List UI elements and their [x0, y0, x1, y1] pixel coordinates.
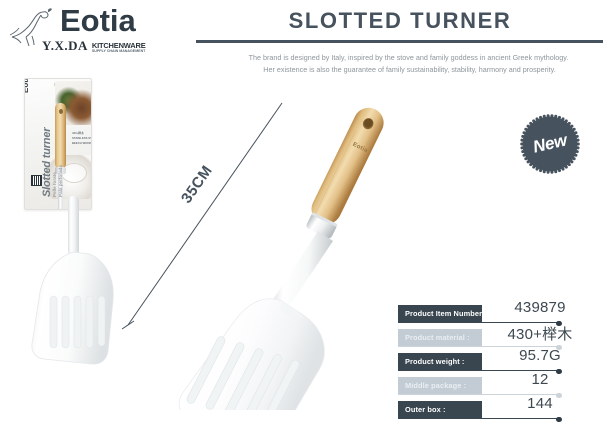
spec-row-value: 439879	[482, 299, 598, 316]
page-title: SLOTTED TURNER	[200, 8, 600, 34]
spec-row: Product material :430+榉木	[398, 325, 598, 349]
spec-row-label: Product material :	[398, 329, 482, 346]
card-turner-hang-hole	[59, 109, 63, 114]
product-spec-sheet: Eotia Y.X.DA KITCHENWARE SUPPLY CHAIN MA…	[0, 0, 603, 427]
logo-category-block: KITCHENWARE SUPPLY CHAIN MANAGEMENT	[92, 42, 146, 54]
specification-table: Product Item Number:439879Product materi…	[398, 301, 598, 421]
new-badge: New	[519, 113, 581, 175]
spec-row: Middle package :12	[398, 373, 598, 397]
spec-row-value: 144	[482, 395, 598, 412]
card-subtitle-line-1: Pelle forate	[52, 172, 57, 197]
card-spec-line-1: 430+榉木	[72, 131, 91, 135]
spec-row-value: 430+榉木	[482, 323, 598, 344]
card-product-subtitle: Pelle forate Pala perforada	[52, 165, 64, 197]
spec-row-line	[398, 418, 560, 419]
logo-company-name: Y.X.DA	[42, 38, 88, 54]
brand-logo: Eotia Y.X.DA KITCHENWARE SUPPLY CHAIN MA…	[8, 2, 193, 54]
spec-row-label: Outer box :	[398, 401, 482, 418]
spec-row: Product weight :95.7G	[398, 349, 598, 373]
card-subtitle-line-2: Pala perforada	[58, 165, 63, 197]
header-divider	[196, 40, 603, 43]
card-spec-line-2: STAINLESS STEEL	[72, 136, 91, 140]
spec-row: Product Item Number:439879	[398, 301, 598, 325]
spec-row-value: 95.7G	[482, 347, 598, 364]
card-spec-line-3: BEECH WOOD	[72, 141, 91, 145]
logo-subtitle: Y.X.DA KITCHENWARE SUPPLY CHAIN MANAGEME…	[42, 38, 146, 54]
card-logo: Eotia	[24, 78, 30, 93]
card-spec-block: 430+榉木 STAINLESS STEEL BEECH WOOD	[72, 131, 91, 143]
spec-row-label: Product weight :	[398, 353, 482, 370]
brand-description: The brand is designed by Italy, inspired…	[216, 52, 603, 75]
logo-wordmark: Eotia	[60, 3, 136, 39]
logo-tagline: SUPPLY CHAIN MANAGEMENT	[92, 50, 146, 53]
spec-row-dot	[556, 417, 562, 423]
spec-row-label: Middle package :	[398, 377, 482, 394]
spec-row-value: 12	[482, 371, 598, 388]
packaging-card: Eotia Slotted turner Pelle forate Pala p…	[24, 78, 92, 210]
description-line-1: The brand is designed by Italy, inspired…	[214, 52, 603, 64]
description-line-2: Her existence is also the guarantee of f…	[216, 64, 603, 76]
spec-row: Outer box :144	[398, 397, 598, 421]
spec-row-label: Product Item Number:	[398, 305, 482, 322]
